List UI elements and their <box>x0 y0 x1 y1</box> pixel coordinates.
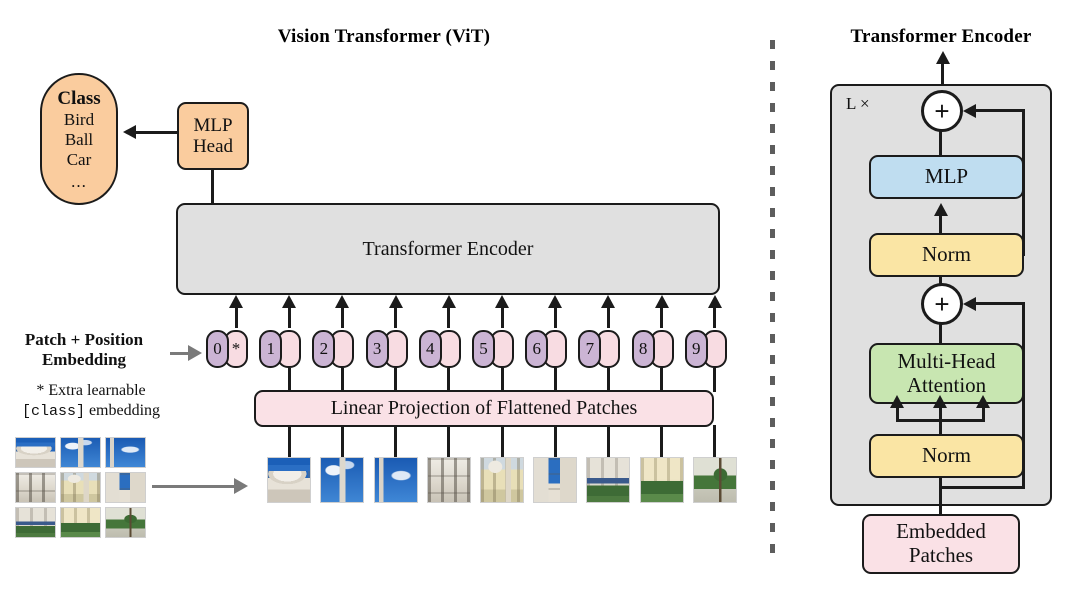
patch-1-to-projection-line <box>288 425 291 457</box>
token-4-to-encoder-line <box>447 306 450 328</box>
residual-top-hline-top <box>975 109 1025 112</box>
source-patch-r1-c3 <box>105 437 146 468</box>
class-item-bird: Bird <box>64 110 94 130</box>
residual-mid-arrowhead <box>963 297 976 311</box>
embedded-patches-label-line1: Embedded <box>896 520 986 544</box>
token-3-to-encoder-line <box>394 306 397 328</box>
patch-5-to-projection-line <box>501 425 504 457</box>
token-9: 9 <box>685 330 729 368</box>
token-7-to-encoder-arrowhead <box>601 295 615 308</box>
projection-to-token-9-line <box>713 368 716 392</box>
token-6-to-encoder-arrowhead <box>548 295 562 308</box>
patch-position-label-arrow-line <box>170 352 190 355</box>
source-patch-r1-c1 <box>15 437 56 468</box>
class-title: Class <box>57 88 100 110</box>
encoder-norm-top-label: Norm <box>922 243 971 267</box>
token-0: 0* <box>206 330 250 368</box>
patch-9-to-projection-line <box>713 425 716 457</box>
token-5-to-encoder-line <box>501 306 504 328</box>
plus-symbol-top: + <box>934 98 949 124</box>
token-8-to-encoder-arrowhead <box>655 295 669 308</box>
source-patch-r1-c2 <box>60 437 101 468</box>
footnote-line-1: * Extra learnable <box>6 381 176 401</box>
token-2-position-pill: 2 <box>312 330 335 368</box>
embedded-patches-label-line2: Patches <box>909 544 973 568</box>
flattened-patch-1 <box>267 457 311 503</box>
encoder-norm-bottom-label: Norm <box>922 444 971 468</box>
flattened-patch-6 <box>533 457 577 503</box>
residual-add-mid: + <box>921 283 963 325</box>
attention-value-line <box>982 406 985 422</box>
projection-to-token-1-line <box>288 368 291 392</box>
token-6-position-pill: 6 <box>525 330 548 368</box>
encoder-norm-top-box: Norm <box>869 233 1024 277</box>
projection-to-token-6-line <box>554 368 557 392</box>
token-2-to-encoder-line <box>341 306 344 328</box>
attention-key-arrowhead <box>933 395 947 408</box>
encoder-mlp-box: MLP <box>869 155 1024 199</box>
patch-8-to-projection-line <box>660 425 663 457</box>
flattened-patch-5 <box>480 457 524 503</box>
attention-value-arrowhead <box>976 395 990 408</box>
source-patch-r3-c2 <box>60 507 101 538</box>
encoder-norm-bottom-box: Norm <box>869 434 1024 478</box>
encoder-attention-label-line2: Attention <box>907 374 986 398</box>
mlp-to-plus-line <box>939 131 942 157</box>
token-1-to-encoder-line <box>288 306 291 328</box>
source-to-strip-arrowhead <box>234 478 248 494</box>
attention-query-arrowhead <box>890 395 904 408</box>
token-8-position-pill: 8 <box>632 330 655 368</box>
source-patch-r2-c2 <box>60 472 101 503</box>
mlp-head-box: MLP Head <box>177 102 249 170</box>
left-panel-title: Vision Transformer (ViT) <box>184 26 584 48</box>
normtop-to-mlp-line <box>939 213 942 235</box>
patch-position-label-line1: Patch + Position <box>4 330 164 350</box>
patch-3-to-projection-line <box>394 425 397 457</box>
token-1-to-encoder-arrowhead <box>282 295 296 308</box>
embedded-patches-box: Embedded Patches <box>862 514 1020 574</box>
embedded-to-norm-line <box>939 476 942 516</box>
flattened-patch-8 <box>640 457 684 503</box>
token-7-to-encoder-line <box>607 306 610 328</box>
flattened-patch-4 <box>427 457 471 503</box>
token-2-to-encoder-arrowhead <box>335 295 349 308</box>
normtop-to-mlp-arrowhead <box>934 203 948 216</box>
class-item-car: Car <box>67 150 92 170</box>
token-9-to-encoder-arrowhead <box>708 295 722 308</box>
attention-query-line <box>896 406 899 422</box>
mlp-head-to-encoder-line <box>211 169 214 205</box>
token-6: 6 <box>525 330 569 368</box>
token-6-to-encoder-line <box>554 306 557 328</box>
flattened-patch-7 <box>586 457 630 503</box>
encoder-output-arrowhead <box>936 51 950 64</box>
source-patch-r3-c1 <box>15 507 56 538</box>
flattened-patch-3 <box>374 457 418 503</box>
class-token-footnote: * Extra learnable [class] embedding <box>6 381 176 422</box>
mlp-head-label-line2: Head <box>193 136 233 157</box>
token-1-position-pill: 1 <box>259 330 282 368</box>
residual-mid-hline-bottom <box>941 486 1025 489</box>
right-panel-title: Transformer Encoder <box>808 26 1074 48</box>
token-2: 2 <box>312 330 356 368</box>
projection-to-token-8-line <box>660 368 663 392</box>
token-4-to-encoder-arrowhead <box>442 295 456 308</box>
patch-7-to-projection-line <box>607 425 610 457</box>
source-patch-r2-c3 <box>105 472 146 503</box>
class-ellipsis: ... <box>71 173 87 190</box>
patch-4-to-projection-line <box>447 425 450 457</box>
token-4-position-pill: 4 <box>419 330 442 368</box>
class-token-mono: [class] <box>22 403 85 420</box>
encoder-mlp-label: MLP <box>925 165 968 189</box>
patch-position-embedding-label: Patch + Position Embedding <box>4 330 164 369</box>
transformer-encoder-box: Transformer Encoder <box>176 203 720 295</box>
source-image-grid <box>15 437 147 537</box>
patch-position-label-line2: Embedding <box>4 350 164 370</box>
patch-position-label-arrowhead <box>188 345 202 361</box>
projection-to-token-7-line <box>607 368 610 392</box>
attention-key-line <box>939 406 942 422</box>
transformer-encoder-label: Transformer Encoder <box>363 238 534 260</box>
class-item-ball: Ball <box>65 130 93 150</box>
token-5-to-encoder-arrowhead <box>495 295 509 308</box>
source-patch-r2-c1 <box>15 472 56 503</box>
encoder-attention-label-line1: Multi-Head <box>898 350 996 374</box>
class-output-pill: Class Bird Ball Car ... <box>40 73 118 205</box>
source-to-strip-line <box>152 485 236 488</box>
plus-symbol-mid: + <box>934 291 949 317</box>
source-patch-r3-c3 <box>105 507 146 538</box>
token-3-to-encoder-arrowhead <box>389 295 403 308</box>
linear-projection-label: Linear Projection of Flattened Patches <box>331 397 638 419</box>
token-0-to-encoder-line <box>235 306 238 328</box>
token-3-position-pill: 3 <box>366 330 389 368</box>
mlp-head-label-line1: MLP <box>193 115 232 136</box>
residual-add-top: + <box>921 90 963 132</box>
flattened-patch-2 <box>320 457 364 503</box>
mlp-to-class-line <box>136 131 178 134</box>
token-4: 4 <box>419 330 463 368</box>
token-5-position-pill: 5 <box>472 330 495 368</box>
token-1: 1 <box>259 330 303 368</box>
patch-6-to-projection-line <box>554 425 557 457</box>
patch-2-to-projection-line <box>341 425 344 457</box>
token-8: 8 <box>632 330 676 368</box>
residual-top-arrowhead <box>963 104 976 118</box>
token-9-position-pill: 9 <box>685 330 708 368</box>
panel-divider <box>770 40 775 560</box>
token-7: 7 <box>578 330 622 368</box>
token-7-position-pill: 7 <box>578 330 601 368</box>
token-5: 5 <box>472 330 516 368</box>
token-9-to-encoder-line <box>713 306 716 328</box>
token-3: 3 <box>366 330 410 368</box>
token-8-to-encoder-line <box>660 306 663 328</box>
projection-to-token-2-line <box>341 368 344 392</box>
mlp-to-class-arrowhead <box>123 125 136 139</box>
class-token-asterisk: * <box>224 330 248 368</box>
linear-projection-box: Linear Projection of Flattened Patches <box>254 390 714 427</box>
projection-to-token-3-line <box>394 368 397 392</box>
footnote-line-2-tail: embedding <box>85 402 160 419</box>
token-0-to-encoder-arrowhead <box>229 295 243 308</box>
flattened-patch-9 <box>693 457 737 503</box>
residual-mid-hline-top <box>975 302 1025 305</box>
encoder-repeat-label: L × <box>846 94 870 114</box>
projection-to-token-4-line <box>447 368 450 392</box>
projection-to-token-5-line <box>501 368 504 392</box>
footnote-line-2: [class] embedding <box>6 401 176 422</box>
plusmid-to-attention-line <box>939 324 942 345</box>
